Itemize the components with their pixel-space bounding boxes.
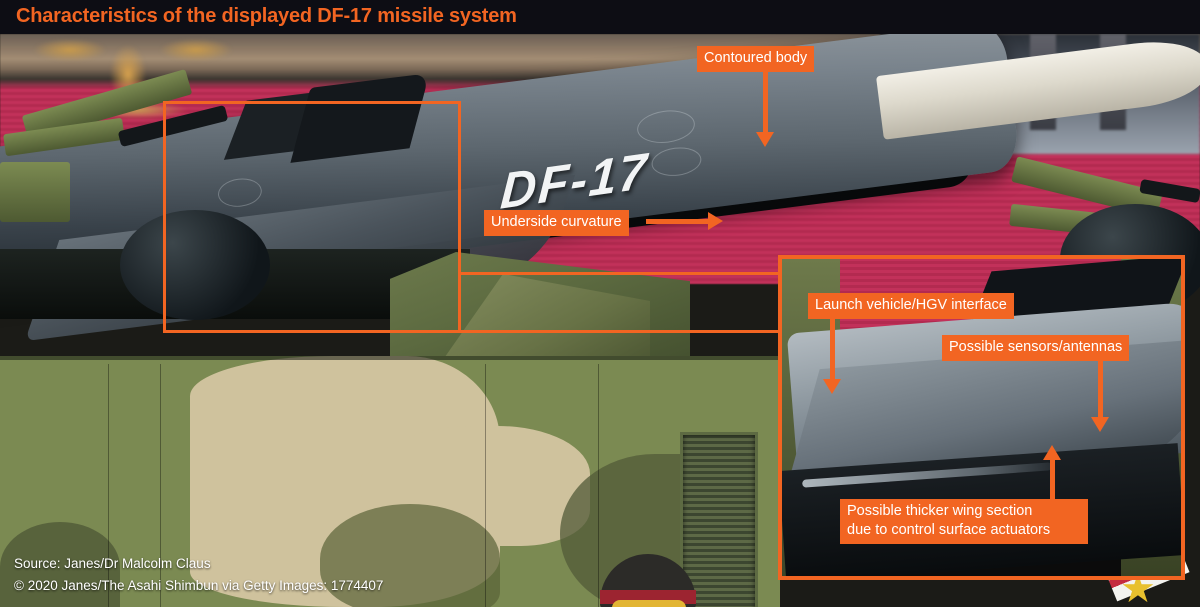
annotation-arrow-head-contoured-body bbox=[756, 132, 774, 147]
header-bar: Characteristics of the displayed DF-17 m… bbox=[0, 0, 1200, 34]
soldier-shoulder bbox=[612, 600, 686, 607]
annotation-arrow-head-underside-curvature bbox=[708, 212, 723, 230]
vehicle-louvre-vent bbox=[680, 432, 758, 607]
annotation-label-underside-curvature: Underside curvature bbox=[484, 210, 629, 236]
annotation-arrow-head-possible-sensors bbox=[1091, 417, 1109, 432]
thicker-wing-line-1: Possible thicker wing section bbox=[847, 502, 1081, 521]
annotation-label-contoured-body: Contoured body bbox=[697, 46, 814, 72]
cradle-mount bbox=[0, 162, 70, 222]
panel-marking bbox=[635, 107, 697, 146]
source-line: Source: Janes/Dr Malcolm Claus bbox=[14, 553, 383, 575]
annotation-arrow-shaft-thicker-wing bbox=[1050, 459, 1055, 501]
connector-line-top bbox=[461, 272, 778, 275]
panel-marking bbox=[650, 145, 703, 179]
highlight-region-box bbox=[163, 101, 461, 333]
annotation-arrow-shaft-possible-sensors bbox=[1098, 361, 1103, 417]
vehicle-top-edge bbox=[0, 356, 780, 360]
annotation-arrow-shaft-underside-curvature bbox=[646, 219, 708, 224]
vehicle-panel-seam bbox=[485, 364, 486, 607]
infographic-page: Characteristics of the displayed DF-17 m… bbox=[0, 0, 1200, 607]
annotation-arrow-shaft-launch-vehicle-hgv bbox=[830, 319, 835, 379]
thicker-wing-line-2: due to control surface actuators bbox=[847, 521, 1081, 540]
copyright-line: © 2020 Janes/The Asahi Shimbun via Getty… bbox=[14, 575, 383, 597]
annotation-label-possible-sensors-antennas: Possible sensors/antennas bbox=[942, 335, 1129, 361]
vehicle-panel-seam bbox=[598, 364, 599, 607]
annotation-arrow-head-launch-vehicle-hgv bbox=[823, 379, 841, 394]
page-title: Characteristics of the displayed DF-17 m… bbox=[16, 5, 517, 28]
inset-detail-panel: Launch vehicle/HGV interface Possible se… bbox=[778, 255, 1185, 580]
credits-block: Source: Janes/Dr Malcolm Claus © 2020 Ja… bbox=[14, 553, 383, 597]
photo-stage: DF-17 ★ ★ bbox=[0, 34, 1200, 607]
annotation-label-launch-vehicle-hgv-interface: Launch vehicle/HGV interface bbox=[808, 293, 1014, 319]
connector-line-bottom bbox=[461, 330, 778, 333]
annotation-label-thicker-wing-section: Possible thicker wing section due to con… bbox=[840, 499, 1088, 544]
annotation-arrow-head-thicker-wing bbox=[1043, 445, 1061, 460]
annotation-arrow-shaft-contoured-body bbox=[763, 72, 768, 132]
